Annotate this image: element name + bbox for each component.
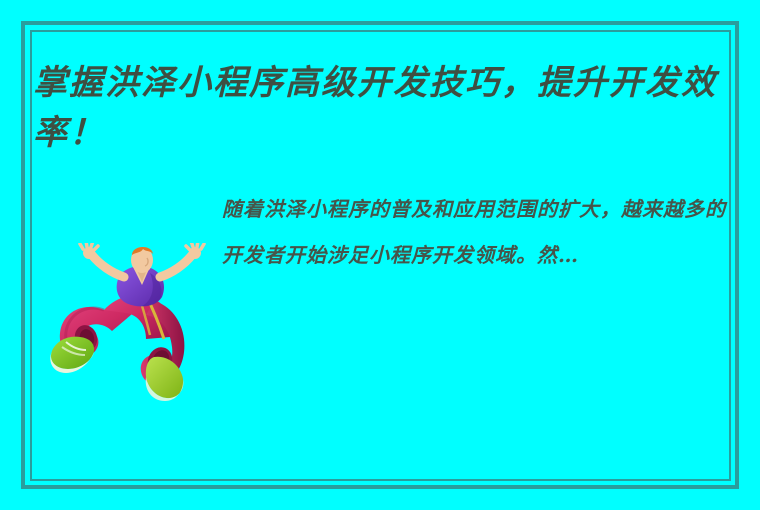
left-sneaker [50,337,94,373]
page-title: 掌握洪泽小程序高级开发技巧，提升开发效率！ [33,58,733,158]
poster-canvas: 掌握洪泽小程序高级开发技巧，提升开发效率！ 随着洪泽小程序的普及和应用范围的扩大… [0,0,760,510]
left-arm [92,255,124,277]
right-arm [160,255,192,277]
jumping-man-illustration [42,243,214,403]
article-excerpt: 随着洪泽小程序的普及和应用范围的扩大，越来越多的开发者开始涉足小程序开发领域。然… [222,186,730,278]
